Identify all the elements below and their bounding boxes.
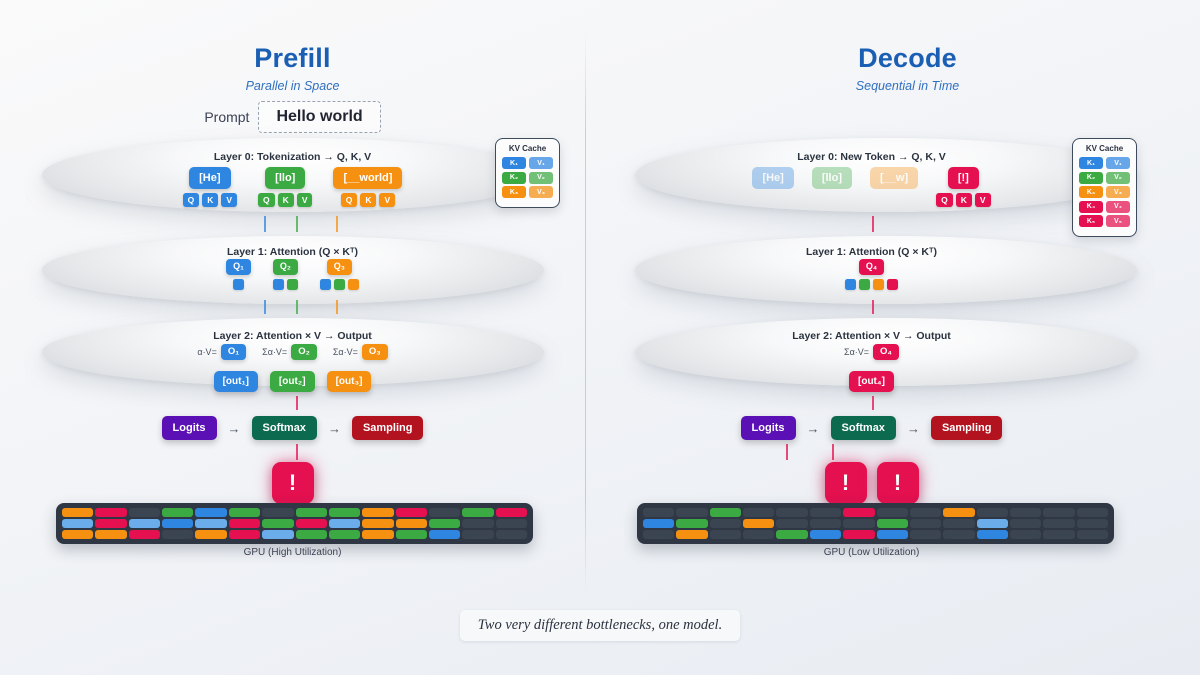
gpu-column — [843, 508, 874, 539]
query-group: Q₂ — [273, 259, 298, 290]
gpu-cell — [396, 530, 427, 539]
prefill-gpu-label: GPU (High Utilization) — [0, 547, 585, 558]
decode-gpu-label: GPU (Low Utilization) — [579, 547, 1164, 558]
out-token-chip[interactable]: [out₁] — [214, 371, 258, 392]
output-item: Σα·V=O₃ — [333, 344, 388, 360]
gpu-cell — [129, 508, 160, 517]
gpu-cell — [129, 519, 160, 528]
gpu-cell — [810, 508, 841, 517]
kv-cache-row: K₁V₁ — [502, 157, 553, 169]
pipeline-softmax-button[interactable]: Softmax — [831, 416, 896, 440]
gpu-cell — [877, 508, 908, 517]
gpu-cell — [195, 530, 226, 539]
prefill-title: Prefill — [0, 43, 585, 74]
diagram-canvas: Prefill Parallel in Space Prompt Hello w… — [0, 0, 1200, 675]
kv-cache-row: K₂V₂ — [1079, 172, 1130, 184]
output-formula: Σα·V= — [262, 347, 287, 357]
gpu-cell — [296, 519, 327, 528]
kv-cache-row: K₅V₅ — [1079, 215, 1130, 227]
layer2-label: Layer 2: Attention × V → Output — [579, 330, 1164, 342]
query-chip[interactable]: Q₁ — [226, 259, 251, 275]
gpu-cell — [943, 519, 974, 528]
gpu-column — [776, 508, 807, 539]
qkv-cell-v: V — [221, 193, 237, 207]
gpu-cell — [229, 519, 260, 528]
pipeline-softmax-button[interactable]: Softmax — [252, 416, 317, 440]
kv-value-cell: V₃ — [529, 186, 553, 198]
gpu-cell — [429, 519, 460, 528]
gpu-column — [643, 508, 674, 539]
column-divider — [585, 30, 586, 595]
gpu-cell — [95, 530, 126, 539]
gpu-cell — [362, 508, 393, 517]
connector-line — [872, 300, 874, 314]
gpu-cell — [743, 508, 774, 517]
connector-line — [786, 444, 788, 460]
gpu-cell — [643, 530, 674, 539]
connector-line — [872, 396, 874, 410]
pipeline-logits-button[interactable]: Logits — [162, 416, 217, 440]
gpu-cell — [810, 519, 841, 528]
gpu-column — [1077, 508, 1108, 539]
token-chip[interactable]: [!] — [948, 167, 979, 189]
attention-cells — [233, 279, 244, 290]
gpu-cell — [743, 519, 774, 528]
gpu-column — [362, 508, 393, 539]
gpu-cell — [262, 508, 293, 517]
layer1-label: Layer 1: Attention (Q × Kᵀ) — [0, 246, 585, 258]
prefill-outtoken-row: [out₁][out₂][out₃] — [0, 371, 585, 392]
output-chip[interactable]: O₂ — [291, 344, 317, 360]
gpu-column — [743, 508, 774, 539]
gpu-column — [462, 508, 493, 539]
qkv-row: QKV — [183, 193, 237, 207]
kv-cache-title: KV Cache — [1079, 144, 1130, 153]
prefill-kv-cache: KV Cache K₁V₁K₂V₂K₃V₃ — [495, 138, 560, 208]
connector-line — [264, 300, 266, 314]
query-chip[interactable]: Q₄ — [859, 259, 884, 275]
gpu-column — [977, 508, 1008, 539]
decode-title: Decode — [615, 43, 1200, 74]
qkv-cell-k: K — [202, 193, 218, 207]
token-chip[interactable]: [He] — [752, 167, 793, 189]
out-token-chip[interactable]: [out₂] — [270, 371, 315, 392]
gpu-column — [229, 508, 260, 539]
pipeline-sampling-button[interactable]: Sampling — [352, 416, 424, 440]
gpu-cell — [1010, 519, 1041, 528]
gpu-cell — [1077, 530, 1108, 539]
qkv-cell-q: Q — [936, 193, 953, 207]
pipeline-logits-button[interactable]: Logits — [741, 416, 796, 440]
connector-line — [296, 216, 298, 232]
emitted-token[interactable]: ! — [272, 462, 314, 504]
gpu-cell — [843, 530, 874, 539]
token-group: [llo] — [812, 167, 852, 189]
gpu-cell — [462, 508, 493, 517]
attention-cell — [287, 279, 298, 290]
gpu-column — [95, 508, 126, 539]
gpu-cell — [95, 519, 126, 528]
qkv-cell-k: K — [278, 193, 294, 207]
attention-cell — [845, 279, 856, 290]
gpu-cell — [496, 508, 527, 517]
pipeline-arrow-icon: → — [807, 421, 820, 436]
connector-line — [872, 216, 874, 232]
attention-cell — [859, 279, 870, 290]
kv-key-cell: K₅ — [1079, 215, 1103, 227]
emitted-token[interactable]: ! — [825, 462, 867, 504]
prefill-emitted-row: ! — [0, 462, 585, 504]
gpu-cell — [877, 519, 908, 528]
gpu-cell — [910, 519, 941, 528]
gpu-cell — [776, 519, 807, 528]
gpu-cell — [329, 519, 360, 528]
gpu-cell — [429, 508, 460, 517]
layer2-label: Layer 2: Attention × V → Output — [0, 330, 585, 342]
gpu-cell — [329, 508, 360, 517]
gpu-column — [129, 508, 160, 539]
gpu-cell — [362, 519, 393, 528]
emitted-token[interactable]: ! — [877, 462, 919, 504]
kv-key-cell: K₃ — [502, 186, 526, 198]
kv-value-cell: V₃ — [1106, 186, 1130, 198]
gpu-cell — [195, 519, 226, 528]
gpu-cell — [95, 508, 126, 517]
gpu-cell — [229, 530, 260, 539]
gpu-cell — [910, 508, 941, 517]
gpu-cell — [1043, 508, 1074, 517]
gpu-cell — [296, 508, 327, 517]
token-group: [llo]QKV — [258, 167, 312, 207]
token-group: [__w] — [870, 167, 918, 189]
output-item: Σα·V=O₄ — [844, 344, 899, 360]
output-chip[interactable]: O₃ — [362, 344, 388, 360]
gpu-cell — [229, 508, 260, 517]
prompt-label: Prompt — [204, 109, 249, 125]
gpu-column — [162, 508, 193, 539]
kv-key-cell: K₃ — [1079, 186, 1103, 198]
attention-cells — [320, 279, 359, 290]
gpu-cell — [977, 519, 1008, 528]
gpu-column — [877, 508, 908, 539]
kv-value-cell: V₅ — [1106, 215, 1130, 227]
query-group: Q₁ — [226, 259, 251, 290]
gpu-cell — [62, 519, 93, 528]
decode-outtoken-row: [out₄] — [579, 371, 1164, 392]
gpu-column — [710, 508, 741, 539]
gpu-column — [396, 508, 427, 539]
qkv-row: QKV — [341, 193, 395, 207]
token-chip[interactable]: [llo] — [812, 167, 852, 189]
gpu-cell — [1010, 508, 1041, 517]
decode-output-row: Σα·V=O₄ — [579, 344, 1164, 360]
gpu-cell — [396, 508, 427, 517]
gpu-cell — [362, 530, 393, 539]
gpu-cell — [396, 519, 427, 528]
out-token-chip[interactable]: [out₄] — [849, 371, 894, 392]
prefill-query-row: Q₁Q₂Q₃ — [0, 259, 585, 290]
pipeline-arrow-icon: → — [907, 421, 920, 436]
prompt-row: Prompt Hello world — [0, 101, 585, 133]
gpu-column — [262, 508, 293, 539]
decode-query-row: Q₄ — [579, 259, 1164, 290]
kv-key-cell: K₂ — [502, 172, 526, 184]
gpu-cell — [1043, 530, 1074, 539]
gpu-cell — [462, 530, 493, 539]
decode-kv-cache: KV Cache K₁V₁K₂V₂K₃V₃K₄V₄K₅V₅ — [1072, 138, 1137, 237]
connector-line — [832, 444, 834, 460]
qkv-cell-k: K — [956, 193, 972, 207]
kv-cache-row: K₁V₁ — [1079, 157, 1130, 169]
gpu-column — [496, 508, 527, 539]
attention-cell — [273, 279, 284, 290]
gpu-cell — [162, 508, 193, 517]
kv-value-cell: V₂ — [1106, 172, 1130, 184]
decode-gpu-bar — [637, 503, 1114, 544]
prefill-output-row: α·V=O₁Σα·V=O₂Σα·V=O₃ — [0, 344, 585, 360]
gpu-column — [1043, 508, 1074, 539]
kv-key-cell: K₄ — [1079, 201, 1103, 213]
token-chip[interactable]: [He] — [189, 167, 230, 189]
gpu-cell — [810, 530, 841, 539]
gpu-column — [1010, 508, 1041, 539]
output-item: Σα·V=O₂ — [262, 344, 317, 360]
gpu-cell — [743, 530, 774, 539]
output-formula: Σα·V= — [844, 347, 869, 357]
gpu-cell — [329, 530, 360, 539]
prefill-subtitle: Parallel in Space — [0, 79, 585, 93]
prefill-gpu-bar — [56, 503, 533, 544]
qkv-row: QKV — [936, 193, 990, 207]
qkv-cell-q: Q — [341, 193, 358, 207]
gpu-cell — [676, 530, 707, 539]
kv-value-cell: V₂ — [529, 172, 553, 184]
attention-cells — [273, 279, 298, 290]
gpu-cell — [710, 530, 741, 539]
output-chip[interactable]: O₁ — [221, 344, 246, 360]
qkv-cell-v: V — [975, 193, 991, 207]
layer1-label: Layer 1: Attention (Q × Kᵀ) — [579, 246, 1164, 258]
gpu-cell — [129, 530, 160, 539]
gpu-cell — [496, 519, 527, 528]
gpu-cell — [62, 508, 93, 517]
gpu-column — [195, 508, 226, 539]
connector-line — [264, 216, 266, 232]
gpu-cell — [262, 519, 293, 528]
decode-emitted-row: !! — [579, 462, 1164, 504]
qkv-cell-q: Q — [258, 193, 275, 207]
kv-value-cell: V₁ — [1106, 157, 1130, 169]
footer-caption: Two very different bottlenecks, one mode… — [460, 610, 740, 641]
gpu-column — [429, 508, 460, 539]
gpu-cell — [843, 519, 874, 528]
connector-line — [336, 216, 338, 232]
attention-cell — [233, 279, 244, 290]
gpu-cell — [943, 508, 974, 517]
gpu-cell — [462, 519, 493, 528]
output-formula: Σα·V= — [333, 347, 358, 357]
gpu-cell — [296, 530, 327, 539]
qkv-cell-q: Q — [183, 193, 200, 207]
gpu-cell — [1043, 519, 1074, 528]
pipeline-sampling-button[interactable]: Sampling — [931, 416, 1003, 440]
gpu-column — [810, 508, 841, 539]
attention-cell — [887, 279, 898, 290]
connector-line — [296, 444, 298, 460]
gpu-cell — [162, 530, 193, 539]
gpu-cell — [1077, 519, 1108, 528]
gpu-cell — [643, 508, 674, 517]
kv-cache-row: K₃V₃ — [502, 186, 553, 198]
kv-cache-row: K₄V₄ — [1079, 201, 1130, 213]
prefill-column: Prefill Parallel in Space Prompt Hello w… — [0, 0, 585, 675]
gpu-column — [296, 508, 327, 539]
attention-cell — [873, 279, 884, 290]
kv-value-cell: V₄ — [1106, 201, 1130, 213]
pipeline-arrow-icon: → — [228, 421, 241, 436]
gpu-column — [910, 508, 941, 539]
gpu-cell — [877, 530, 908, 539]
gpu-cell — [977, 530, 1008, 539]
output-item: α·V=O₁ — [197, 344, 246, 360]
gpu-cell — [262, 530, 293, 539]
query-group: Q₄ — [845, 259, 898, 290]
gpu-cell — [496, 530, 527, 539]
query-group: Q₃ — [320, 259, 359, 290]
kv-cache-row: K₃V₃ — [1079, 186, 1130, 198]
decode-subtitle: Sequential in Time — [615, 79, 1200, 93]
token-group: [He]QKV — [183, 167, 237, 207]
kv-cache-row: K₂V₂ — [502, 172, 553, 184]
gpu-cell — [977, 508, 1008, 517]
kv-value-cell: V₁ — [529, 157, 553, 169]
gpu-column — [676, 508, 707, 539]
gpu-cell — [429, 530, 460, 539]
gpu-cell — [710, 519, 741, 528]
gpu-cell — [162, 519, 193, 528]
pipeline-arrow-icon: → — [328, 421, 341, 436]
kv-key-cell: K₂ — [1079, 172, 1103, 184]
token-group: [!]QKV — [936, 167, 990, 207]
gpu-cell — [776, 508, 807, 517]
gpu-cell — [943, 530, 974, 539]
token-chip[interactable]: [__world] — [333, 167, 402, 189]
gpu-cell — [195, 508, 226, 517]
output-formula: α·V= — [197, 347, 216, 357]
token-group: [__world]QKV — [333, 167, 402, 207]
kv-key-cell: K₁ — [1079, 157, 1103, 169]
gpu-cell — [910, 530, 941, 539]
qkv-cell-k: K — [360, 193, 376, 207]
out-token-chip[interactable]: [out₃] — [327, 371, 372, 392]
connector-line — [296, 396, 298, 410]
gpu-cell — [710, 508, 741, 517]
gpu-column — [62, 508, 93, 539]
gpu-cell — [843, 508, 874, 517]
connector-line — [336, 300, 338, 314]
gpu-cell — [676, 508, 707, 517]
output-chip[interactable]: O₄ — [873, 344, 899, 360]
token-chip[interactable]: [llo] — [265, 167, 305, 189]
qkv-cell-v: V — [297, 193, 313, 207]
token-group: [He] — [752, 167, 793, 189]
gpu-cell — [1077, 508, 1108, 517]
decode-column: Decode Sequential in Time Layer 0: New T… — [615, 0, 1200, 675]
prefill-pipeline-row: Logits→Softmax→Sampling — [0, 416, 585, 440]
gpu-cell — [62, 530, 93, 539]
footer: Two very different bottlenecks, one mode… — [0, 610, 1200, 641]
attention-cell — [348, 279, 359, 290]
qkv-row: QKV — [258, 193, 312, 207]
kv-key-cell: K₁ — [502, 157, 526, 169]
gpu-column — [329, 508, 360, 539]
qkv-cell-v: V — [379, 193, 395, 207]
gpu-column — [943, 508, 974, 539]
gpu-cell — [1010, 530, 1041, 539]
decode-pipeline-row: Logits→Softmax→Sampling — [579, 416, 1164, 440]
gpu-cell — [676, 519, 707, 528]
gpu-cell — [643, 519, 674, 528]
prompt-value[interactable]: Hello world — [258, 101, 380, 133]
attention-cells — [845, 279, 898, 290]
query-chip[interactable]: Q₂ — [273, 259, 298, 275]
attention-cell — [320, 279, 331, 290]
attention-cell — [334, 279, 345, 290]
connector-line — [296, 300, 298, 314]
query-chip[interactable]: Q₃ — [327, 259, 352, 275]
kv-cache-title: KV Cache — [502, 144, 553, 153]
token-chip[interactable]: [__w] — [870, 167, 918, 189]
gpu-cell — [776, 530, 807, 539]
